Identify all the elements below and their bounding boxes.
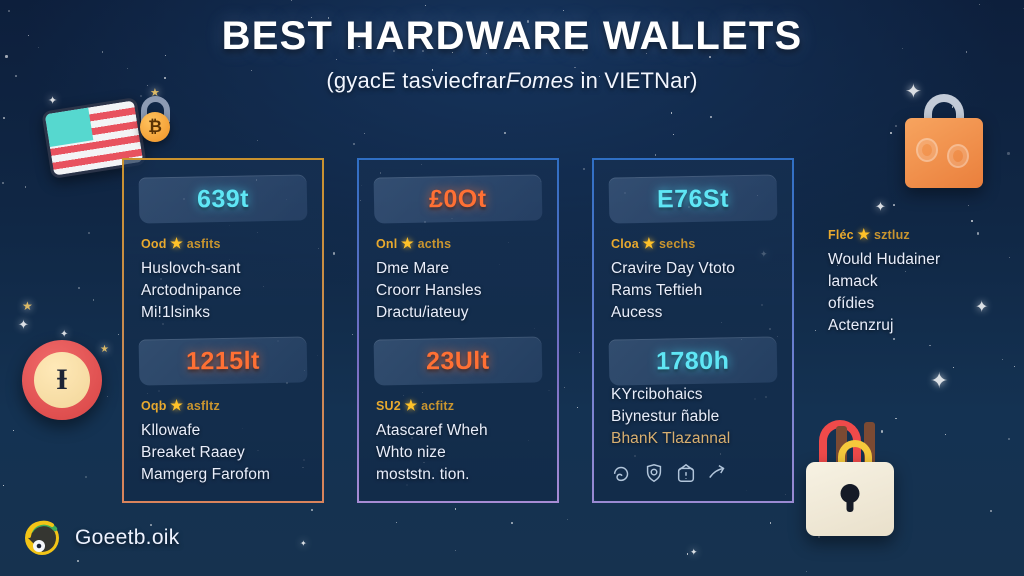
feature-lines: KYrcibohaicsBiynestur ñableBhanK Tlazann…	[611, 384, 779, 450]
price-pill: 23Ult	[374, 336, 543, 385]
feature-line: Dme Mare	[376, 258, 544, 280]
feature-line: Atascaref Wheh	[376, 420, 544, 442]
right-lines: Would HudainerlamackofídiesActenzruj	[828, 249, 1018, 337]
fingerprint-padlock-icon	[905, 118, 983, 188]
feature-lines: Dme MareCroorr HanslesDractu/iateuy	[376, 258, 544, 324]
feature-line: Arctodnipance	[141, 280, 309, 302]
rating-prefix: Ood	[141, 237, 167, 251]
footer-brand[interactable]: Goeetb.oik	[22, 518, 180, 558]
red-badge-glyph: Ɨ	[34, 352, 90, 408]
key-arrow-icon[interactable]	[707, 462, 729, 489]
bitcoin-coin-icon: ₿	[140, 112, 170, 142]
right-rating: Fléc ★ sztluz	[828, 226, 1018, 243]
rating-suffix: acths	[418, 237, 452, 251]
rating-line: SU2 ★ acfitz	[376, 397, 544, 414]
highlight-line: BhanK Tlazannal	[611, 428, 779, 450]
header: BEST HARDWARE WALLETS (gyacE tasviecfrar…	[0, 14, 1024, 94]
brand-name: Goeetb.oik	[75, 526, 180, 550]
padlock-body	[905, 118, 983, 188]
feature-line: KYrcibohaics	[611, 384, 779, 406]
price-pill: E76St	[609, 174, 778, 223]
right-line: lamack	[828, 271, 1018, 293]
feature-lines: Cravire Day VtotoRams TeftiehAucess	[611, 258, 779, 324]
feature-line: Mi!1lsinks	[141, 302, 309, 324]
feature-line: Cravire Day Vtoto	[611, 258, 779, 280]
swirl-logo	[22, 518, 62, 558]
star-icon: ★	[858, 226, 871, 242]
price-amount: 23Ult	[426, 346, 490, 376]
price-pill: 639t	[139, 174, 308, 223]
fingerprint-left	[916, 138, 938, 162]
card-block: 1780hKYrcibohaicsBiynestur ñableBhanK Tl…	[607, 338, 779, 489]
fingerprint-right	[947, 144, 969, 168]
rating-line: Cloa ★ sechs	[611, 235, 779, 252]
right-info-column: Fléc ★ sztluz Would Hudainerlamackofídie…	[828, 213, 1018, 337]
feature-line: Dractu/iateuy	[376, 302, 544, 324]
card-block: 23UltSU2 ★ acfitzAtascaref WhehWhto nize…	[372, 338, 544, 486]
rating-prefix: Oqb	[141, 399, 167, 413]
rating-prefix: Onl	[376, 237, 397, 251]
feature-line: Huslovch-sant	[141, 258, 309, 280]
feature-line: Croorr Hansles	[376, 280, 544, 302]
subtitle-pre: (gyacE tasviecfrar	[326, 68, 506, 93]
price-amount: 1215lt	[186, 346, 260, 376]
lock-alert-icon[interactable]	[675, 462, 697, 489]
padlock-body	[806, 462, 894, 536]
price-amount: E76St	[657, 184, 729, 214]
star-icon: ★	[405, 397, 418, 413]
feature-line: Kllowafe	[141, 420, 309, 442]
price-pill: 1215lt	[139, 336, 308, 385]
card-grid: 639tOod ★ asfitsHuslovch-santArctodnipan…	[122, 158, 794, 503]
rating-line: Oqb ★ asfltz	[141, 397, 309, 414]
product-card[interactable]: £0OtOnl ★ acthsDme MareCroorr HanslesDra…	[357, 158, 559, 503]
right-line: Would Hudainer	[828, 249, 1018, 271]
star-icon: ★	[643, 235, 656, 251]
feature-line: Biynestur ñable	[611, 406, 779, 428]
subtitle-italic: Fomes	[506, 68, 574, 93]
rating-suffix: asfits	[187, 237, 221, 251]
rating-prefix: SU2	[376, 399, 401, 413]
price-pill: £0Ot	[374, 174, 543, 223]
feature-line: Breaket Raaey	[141, 442, 309, 464]
red-coin-badge-icon: Ɨ	[22, 340, 102, 420]
swirl-icon[interactable]	[611, 462, 633, 489]
price-amount: 1780h	[656, 346, 730, 376]
star-icon: ★	[170, 235, 183, 251]
keyhole	[841, 484, 860, 503]
rating-line: Onl ★ acths	[376, 235, 544, 252]
right-line: Actenzruj	[828, 315, 1018, 337]
card-block: E76StCloa ★ sechsCravire Day VtotoRams T…	[607, 176, 779, 324]
card-block: 1215ltOqb ★ asfltzKllowafeBreaket RaaeyM…	[137, 338, 309, 486]
right-rating-prefix: Fléc	[828, 228, 854, 242]
feature-line: Whto nize	[376, 442, 544, 464]
price-amount: 639t	[197, 184, 249, 213]
right-line: ofídies	[828, 293, 1018, 315]
shield-icon[interactable]	[643, 462, 665, 489]
product-card[interactable]: 639tOod ★ asfitsHuslovch-santArctodnipan…	[122, 158, 324, 503]
feature-icon-row	[611, 462, 779, 489]
feature-lines: Huslovch-santArctodnipanceMi!1lsinks	[141, 258, 309, 324]
flag-canton	[45, 108, 94, 147]
feature-lines: KllowafeBreaket RaaeyMamgerg Farofom	[141, 420, 309, 486]
price-pill: 1780h	[609, 336, 778, 385]
subtitle-post: in VIETNar)	[574, 68, 697, 93]
rating-line: Ood ★ asfits	[141, 235, 309, 252]
feature-line: Mamgerg Farofom	[141, 464, 309, 486]
right-rating-suffix: sztluz	[874, 228, 910, 242]
feature-lines: Atascaref WhehWhto nizemoststn. tion.	[376, 420, 544, 486]
price-amount: £0Ot	[429, 184, 487, 214]
card-block: £0OtOnl ★ acthsDme MareCroorr HanslesDra…	[372, 176, 544, 324]
feature-line: moststn. tion.	[376, 464, 544, 486]
page-title: BEST HARDWARE WALLETS	[0, 14, 1024, 59]
star-icon: ★	[401, 235, 414, 251]
rating-suffix: acfitz	[421, 399, 454, 413]
feature-line: Aucess	[611, 302, 779, 324]
rating-suffix: asfltz	[187, 399, 220, 413]
page-subtitle: (gyacE tasviecfrarFomes in VIETNar)	[0, 68, 1024, 94]
rating-suffix: sechs	[659, 237, 695, 251]
rating-prefix: Cloa	[611, 237, 639, 251]
card-block: 639tOod ★ asfitsHuslovch-santArctodnipan…	[137, 176, 309, 324]
product-card[interactable]: E76StCloa ★ sechsCravire Day VtotoRams T…	[592, 158, 794, 503]
feature-line: Rams Teftieh	[611, 280, 779, 302]
tool-padlock-icon	[806, 462, 894, 536]
star-icon: ★	[170, 397, 183, 413]
